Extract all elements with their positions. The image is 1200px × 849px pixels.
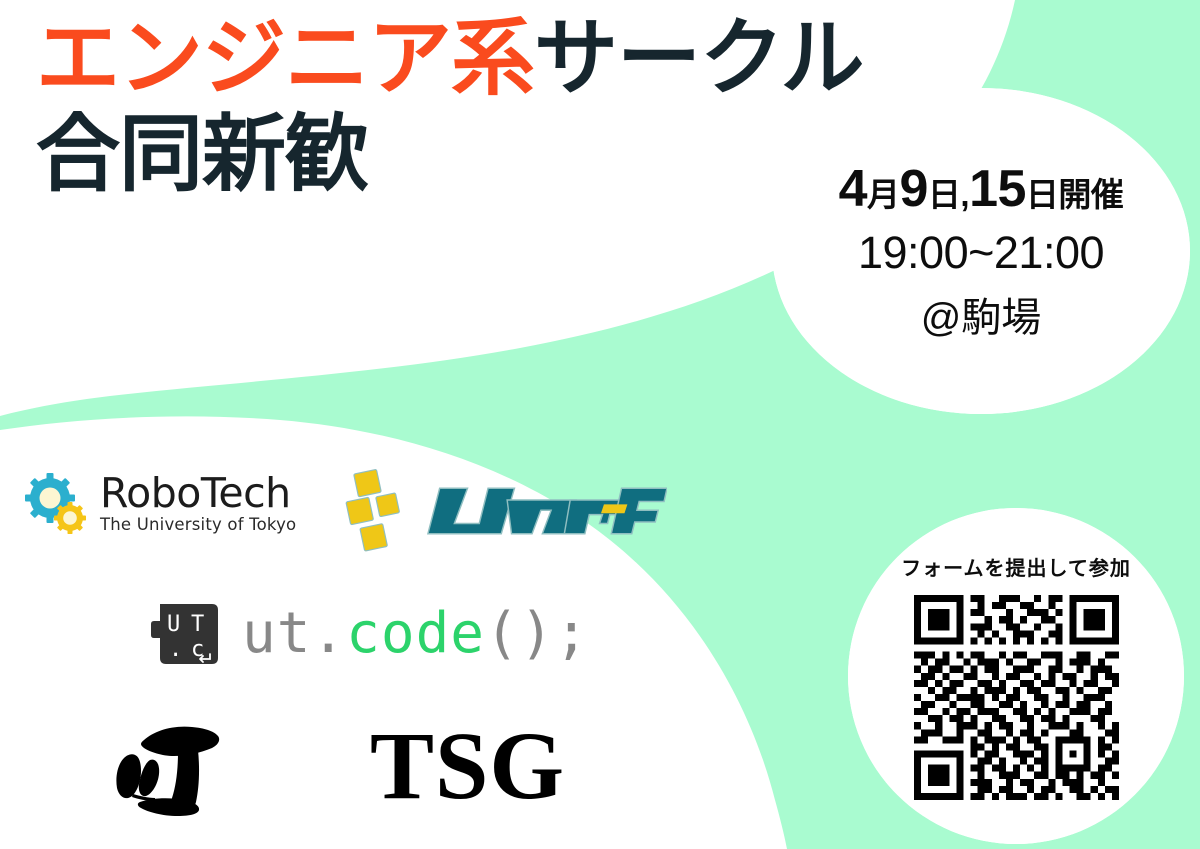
poster-title: エンジニア系サークル 合同新歓 — [36, 16, 864, 197]
utc-badge-icon: U T . c — [150, 598, 222, 670]
utc-letter-t: T — [191, 612, 204, 637]
utcode-suffix: (); — [485, 601, 589, 666]
utcode-code: code — [346, 601, 485, 666]
utcode-prefix: ut. — [242, 601, 346, 666]
qr-caption: フォームを提出して参加 — [901, 552, 1131, 581]
gears-icon — [22, 470, 90, 538]
robotech-subtitle: The University of Tokyo — [100, 515, 296, 534]
date-suffix: 開催 — [1058, 168, 1123, 216]
robotech-name: RoboTech — [100, 474, 296, 513]
date-month-unit: 月 — [867, 168, 900, 216]
logo-utmf[interactable] — [345, 468, 667, 559]
date-day1-number: 9 — [899, 159, 927, 219]
date-day2-number: 15 — [969, 159, 1026, 219]
title-line-2: 合同新歓 — [36, 112, 864, 198]
title-rest: サークル — [534, 11, 863, 105]
utcode-wordmark: ut.code(); — [242, 606, 589, 662]
utmf-squares-icon — [345, 468, 407, 559]
utmf-wordmark — [425, 478, 667, 549]
date-day1-unit: 日 — [928, 168, 961, 216]
logo-utcode[interactable]: U T . c ut.code(); — [150, 598, 589, 670]
logo-kanji-brush[interactable] — [100, 718, 230, 833]
event-poster: エンジニア系サークル 合同新歓 4月9日,15日開催 19:00~21:00 @… — [0, 0, 1200, 849]
utc-letter-u: U — [167, 612, 180, 637]
qr-code-icon[interactable] — [914, 595, 1119, 800]
utc-letter-dot: . — [169, 637, 182, 662]
event-venue: @駒場 — [921, 285, 1042, 343]
tsg-wordmark: TSG — [370, 718, 565, 814]
date-separator: , — [960, 176, 969, 214]
brush-kanji-icon — [100, 718, 230, 833]
robotech-text: RoboTech The University of Tokyo — [100, 474, 296, 534]
date-day2-unit: 日 — [1026, 168, 1059, 216]
event-time: 19:00~21:00 — [858, 227, 1104, 279]
qr-info-circle: フォームを提出して参加 — [848, 508, 1184, 844]
sponsor-logos: RoboTech The University of Tokyo — [0, 430, 740, 840]
title-highlight: エンジニア系 — [36, 11, 534, 105]
logo-robotech[interactable]: RoboTech The University of Tokyo — [22, 470, 296, 538]
title-line-1: エンジニア系サークル — [36, 16, 864, 102]
logo-tsg[interactable]: TSG — [370, 718, 565, 814]
date-line: 4月9日,15日開催 — [839, 159, 1124, 219]
